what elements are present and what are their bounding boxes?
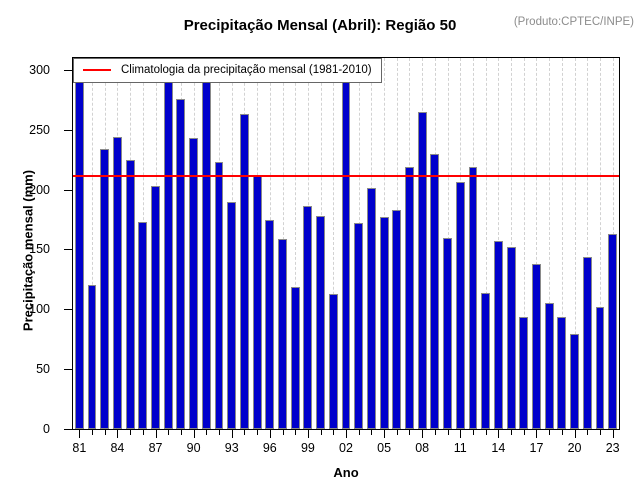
x-axis-tick-minor [283, 430, 284, 435]
bar [405, 167, 414, 429]
bar [100, 149, 109, 429]
x-axis-tick-minor [359, 430, 360, 435]
x-axis-tick-label: 23 [606, 441, 620, 455]
x-axis-tick-minor [448, 430, 449, 435]
x-axis-tick-minor [435, 430, 436, 435]
x-axis-tick [232, 430, 233, 438]
x-axis-tick-minor [587, 430, 588, 435]
x-axis-tick [460, 430, 461, 438]
legend-line-icon [83, 69, 111, 71]
y-axis-tick [64, 249, 72, 250]
x-axis-tick [270, 430, 271, 438]
climatology-reference-line [73, 175, 619, 177]
bar [215, 162, 224, 429]
x-axis-tick [422, 430, 423, 438]
x-axis-tick-minor [486, 430, 487, 435]
x-axis-tick-label: 11 [454, 441, 467, 455]
x-axis-tick-minor [409, 430, 410, 435]
x-axis-tick [346, 430, 347, 438]
y-axis-tick [64, 369, 72, 370]
x-axis-tick-minor [206, 430, 207, 435]
bar [303, 206, 312, 429]
bar [342, 70, 351, 429]
x-axis-tick-label: 93 [225, 441, 239, 455]
bar [443, 238, 452, 429]
x-axis-tick-label: 02 [339, 441, 353, 455]
x-axis-tick-minor [181, 430, 182, 435]
bar [545, 303, 554, 429]
x-axis-tick [79, 430, 80, 438]
x-axis-tick-label: 84 [110, 441, 124, 455]
bar [176, 99, 185, 429]
chart-legend: Climatologia da precipitação mensal (198… [73, 58, 382, 83]
bar [430, 154, 439, 429]
bar [608, 234, 617, 429]
y-axis-tick [64, 309, 72, 310]
x-axis [72, 430, 620, 439]
x-axis-tick-minor [321, 430, 322, 435]
y-axis-tick-label: 300 [29, 63, 50, 77]
bar [113, 137, 122, 429]
y-axis-tick-label: 50 [36, 362, 50, 376]
bar [316, 216, 325, 429]
bar [380, 217, 389, 429]
x-axis-tick-label: 17 [530, 441, 544, 455]
legend-item-label: Climatologia da precipitação mensal (198… [121, 64, 372, 76]
x-axis-tick-minor [511, 430, 512, 435]
x-axis-tick-minor [600, 430, 601, 435]
x-axis-tick-minor [562, 430, 563, 435]
y-axis-tick [64, 429, 72, 430]
x-axis-title: Ano [72, 465, 620, 480]
x-axis-tick [117, 430, 118, 438]
x-axis-tick [308, 430, 309, 438]
bar [151, 186, 160, 429]
y-axis-tick-label: 0 [43, 422, 50, 436]
bar [583, 257, 592, 429]
x-axis-tick [156, 430, 157, 438]
bar [519, 317, 528, 429]
x-axis-tick-label: 81 [72, 441, 86, 455]
y-axis-tick [64, 190, 72, 191]
bar [469, 167, 478, 429]
y-axis-title: Precipitação mensal (mm) [21, 101, 36, 401]
bar [456, 182, 465, 429]
x-axis-tick-minor [168, 430, 169, 435]
bar [227, 202, 236, 429]
bar [75, 75, 84, 429]
x-axis-tick-minor [219, 430, 220, 435]
x-axis-tick-minor [130, 430, 131, 435]
x-axis-tick [536, 430, 537, 438]
bar [596, 307, 605, 429]
x-axis-tick-minor [333, 430, 334, 435]
bar [265, 220, 274, 429]
bar [570, 334, 579, 429]
x-axis-tick-label: 08 [415, 441, 429, 455]
bar [507, 247, 516, 429]
bar [557, 317, 566, 429]
bar [532, 264, 541, 429]
bar [367, 188, 376, 429]
bar [164, 78, 173, 429]
y-axis [63, 57, 72, 430]
produto-credit: (Produto:CPTEC/INPE) [514, 16, 634, 28]
bar [189, 138, 198, 429]
bar [418, 112, 427, 429]
x-axis-tick-minor [524, 430, 525, 435]
bar [240, 114, 249, 429]
bar [202, 70, 211, 429]
x-axis-labels: 818487909396990205081114172023 [72, 441, 620, 457]
bar [138, 222, 147, 429]
x-axis-tick-label: 90 [187, 441, 201, 455]
x-axis-tick-minor [143, 430, 144, 435]
x-axis-tick [613, 430, 614, 438]
x-axis-tick-minor [244, 430, 245, 435]
x-axis-tick-minor [549, 430, 550, 435]
x-axis-tick-minor [92, 430, 93, 435]
bar [291, 287, 300, 429]
x-axis-tick-minor [257, 430, 258, 435]
x-axis-tick-minor [397, 430, 398, 435]
x-axis-tick-minor [371, 430, 372, 435]
chart-root: Precipitação Mensal (Abril): Região 50 0… [0, 0, 640, 500]
plot-area [72, 57, 620, 430]
x-axis-tick-label: 96 [263, 441, 277, 455]
x-axis-tick-minor [473, 430, 474, 435]
x-axis-tick-minor [105, 430, 106, 435]
bar [88, 285, 97, 429]
y-axis-tick [64, 130, 72, 131]
x-axis-tick-label: 05 [377, 441, 391, 455]
x-axis-tick [384, 430, 385, 438]
bar [278, 239, 287, 429]
x-axis-tick [498, 430, 499, 438]
x-axis-tick-label: 14 [491, 441, 505, 455]
bar [126, 160, 135, 429]
bar [481, 293, 490, 429]
x-axis-tick-label: 87 [149, 441, 163, 455]
bar [253, 176, 262, 429]
x-axis-tick-minor [295, 430, 296, 435]
x-axis-tick [194, 430, 195, 438]
bar [329, 294, 338, 429]
bar [354, 223, 363, 429]
plot-inner [73, 58, 619, 429]
x-axis-tick-label: 20 [568, 441, 582, 455]
bar [392, 210, 401, 429]
y-axis-tick [64, 70, 72, 71]
x-axis-tick-label: 99 [301, 441, 315, 455]
x-axis-tick [575, 430, 576, 438]
bar [494, 241, 503, 429]
